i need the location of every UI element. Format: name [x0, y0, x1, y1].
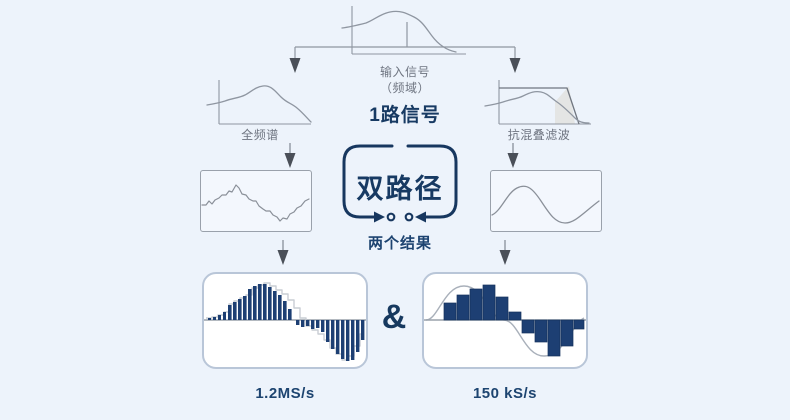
- left-rate-label: 1.2MS/s: [202, 385, 368, 402]
- diagram-canvas: 输入信号 （频域） 1路信号 全频谱: [0, 0, 790, 420]
- arrow-right-upper: [505, 143, 521, 169]
- two-results-label: 两个结果: [335, 232, 465, 253]
- right-rate-label: 150 kS/s: [422, 385, 588, 402]
- high-rate-sampled-panel: [202, 272, 368, 369]
- ampersand-symbol: &: [372, 300, 416, 334]
- anti-alias-filter-chart: [483, 78, 595, 130]
- arrow-left-upper: [282, 143, 298, 169]
- arrow-right-lower: [497, 240, 513, 266]
- top-split-connector: [285, 20, 525, 80]
- low-rate-sampled-panel: [422, 272, 588, 369]
- arrow-left-lower: [275, 240, 291, 266]
- anti-alias-caption: 抗混叠滤波: [480, 127, 598, 143]
- full-spectrum-caption: 全频谱: [205, 127, 315, 143]
- raw-time-waveform-panel: [200, 170, 312, 232]
- input-caption-line2: （频域）: [330, 80, 480, 96]
- channel-count-label: 1路信号: [330, 100, 480, 127]
- filtered-sine-panel: [490, 170, 602, 232]
- full-spectrum-chart: [205, 78, 315, 130]
- dual-path-title: 双路径: [340, 167, 460, 206]
